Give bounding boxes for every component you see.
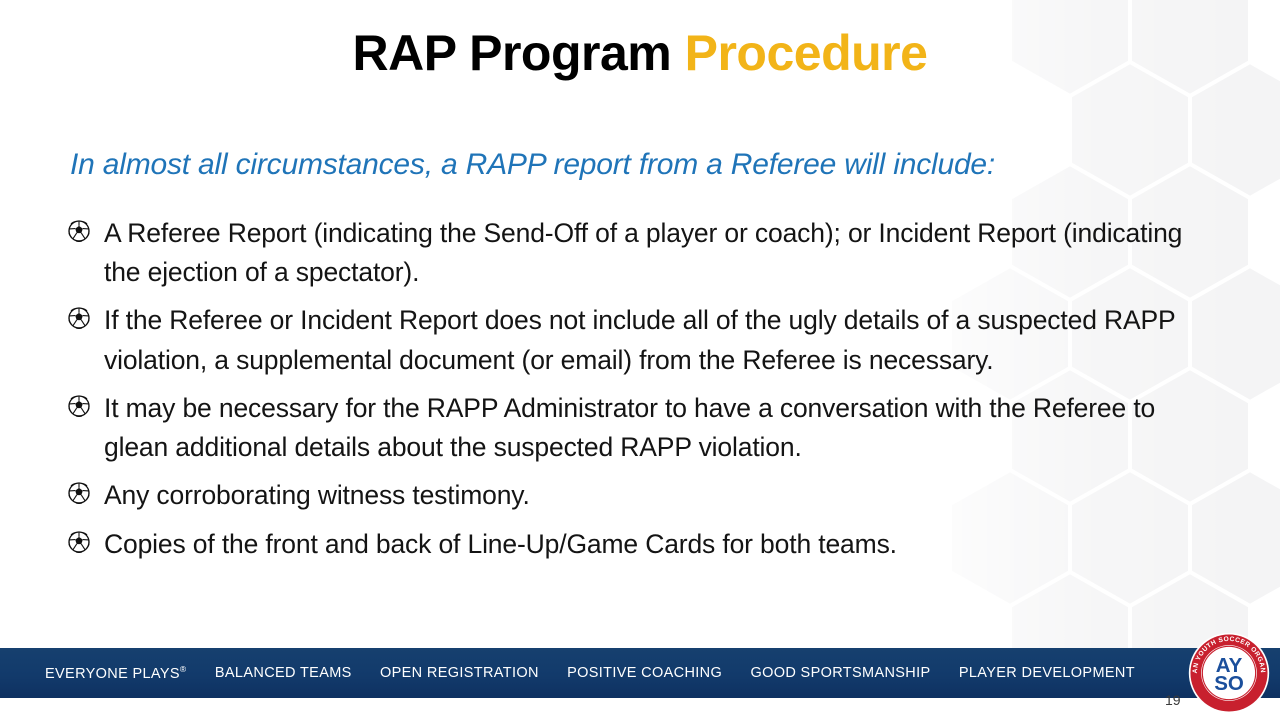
footer-tagline-text: EVERYONE PLAYS	[45, 666, 180, 682]
bullet-text: Any corroborating witness testimony.	[104, 476, 1198, 515]
ayso-logo: AMERICAN YOUTH SOCCER ORGANIZATION FOUND…	[1188, 632, 1270, 714]
soccer-ball-bullet-icon	[68, 482, 90, 504]
soccer-ball-bullet-icon	[68, 531, 90, 553]
footer-tagline-positive-coaching: POSITIVE COACHING	[567, 665, 722, 681]
soccer-ball-bullet-icon	[68, 395, 90, 417]
footer-tagline-everyone-plays: EVERYONE PLAYS®	[45, 664, 187, 682]
list-item: Copies of the front and back of Line-Up/…	[68, 525, 1198, 564]
title-main-text: RAP Program	[353, 25, 685, 81]
list-item: A Referee Report (indicating the Send-Of…	[68, 214, 1198, 292]
svg-text:SO: SO	[1214, 672, 1244, 695]
footer-tagline-balanced-teams: BALANCED TEAMS	[215, 665, 352, 681]
footer-tagline-group: EVERYONE PLAYS® BALANCED TEAMS OPEN REGI…	[45, 648, 1135, 698]
page-number: 19	[1165, 692, 1181, 708]
list-item: It may be necessary for the RAPP Adminis…	[68, 389, 1198, 467]
soccer-ball-bullet-icon	[68, 307, 90, 329]
bullet-text: If the Referee or Incident Report does n…	[104, 301, 1198, 379]
soccer-ball-bullet-icon	[68, 220, 90, 242]
bullet-text: A Referee Report (indicating the Send-Of…	[104, 214, 1198, 292]
bullet-text: Copies of the front and back of Line-Up/…	[104, 525, 1198, 564]
slide-subtitle: In almost all circumstances, a RAPP repo…	[70, 148, 1210, 182]
footer-tagline-good-sportsmanship: GOOD SPORTSMANSHIP	[750, 665, 930, 681]
bullet-text: It may be necessary for the RAPP Adminis…	[104, 389, 1198, 467]
slide-title: RAP Program Procedure	[0, 24, 1280, 82]
footer-tagline-open-registration: OPEN REGISTRATION	[380, 665, 539, 681]
footer-tagline-player-development: PLAYER DEVELOPMENT	[959, 665, 1135, 681]
list-item: If the Referee or Incident Report does n…	[68, 301, 1198, 379]
slide-canvas: RAP Program Procedure In almost all circ…	[0, 0, 1280, 720]
title-accent-text: Procedure	[685, 25, 928, 81]
bullet-list: A Referee Report (indicating the Send-Of…	[68, 214, 1198, 573]
list-item: Any corroborating witness testimony.	[68, 476, 1198, 515]
registered-trademark-icon: ®	[180, 664, 187, 674]
